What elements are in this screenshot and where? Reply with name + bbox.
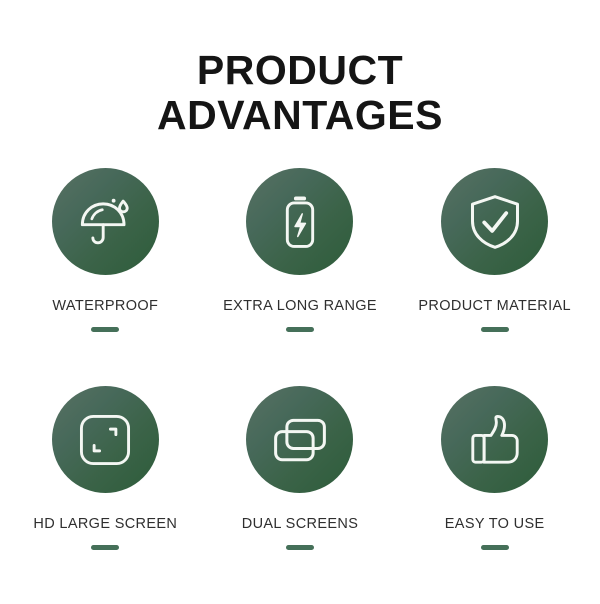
fullscreen-expand-icon — [76, 411, 134, 469]
battery-charging-icon — [271, 193, 329, 251]
feature-label: WATERPROOF — [52, 298, 158, 314]
icon-circle — [52, 386, 159, 493]
accent-dash — [91, 545, 119, 550]
icon-circle — [52, 168, 159, 275]
dual-screens-icon — [270, 410, 330, 470]
icon-circle — [246, 386, 353, 493]
feature-item-easy-to-use: EASY TO USE — [397, 386, 592, 604]
umbrella-raindrop-icon — [76, 193, 134, 251]
feature-label: HD LARGE SCREEN — [33, 516, 177, 532]
accent-dash — [286, 545, 314, 550]
feature-item-product-material: PRODUCT MATERIAL — [397, 168, 592, 386]
page-title: PRODUCT ADVANTAGES — [0, 48, 600, 138]
feature-label: EASY TO USE — [445, 516, 545, 532]
feature-item-extra-long-range: EXTRA LONG RANGE — [203, 168, 398, 386]
feature-item-hd-large-screen: HD LARGE SCREEN — [8, 386, 203, 604]
product-advantages-infographic: PRODUCT ADVANTAGES WATERPROOF — [0, 0, 600, 600]
feature-label: EXTRA LONG RANGE — [223, 298, 377, 314]
title-line-1: PRODUCT — [0, 48, 600, 93]
accent-dash — [481, 545, 509, 550]
icon-circle — [246, 168, 353, 275]
feature-label: DUAL SCREENS — [242, 516, 358, 532]
icon-circle — [441, 386, 548, 493]
thumbs-up-icon — [466, 411, 524, 469]
feature-item-dual-screens: DUAL SCREENS — [203, 386, 398, 604]
accent-dash — [481, 327, 509, 332]
title-line-2: ADVANTAGES — [0, 93, 600, 138]
shield-check-icon — [465, 192, 525, 252]
accent-dash — [286, 327, 314, 332]
accent-dash — [91, 327, 119, 332]
feature-item-waterproof: WATERPROOF — [8, 168, 203, 386]
feature-label: PRODUCT MATERIAL — [418, 298, 571, 314]
feature-grid: WATERPROOF EXTRA LONG RANGE — [8, 168, 592, 604]
icon-circle — [441, 168, 548, 275]
